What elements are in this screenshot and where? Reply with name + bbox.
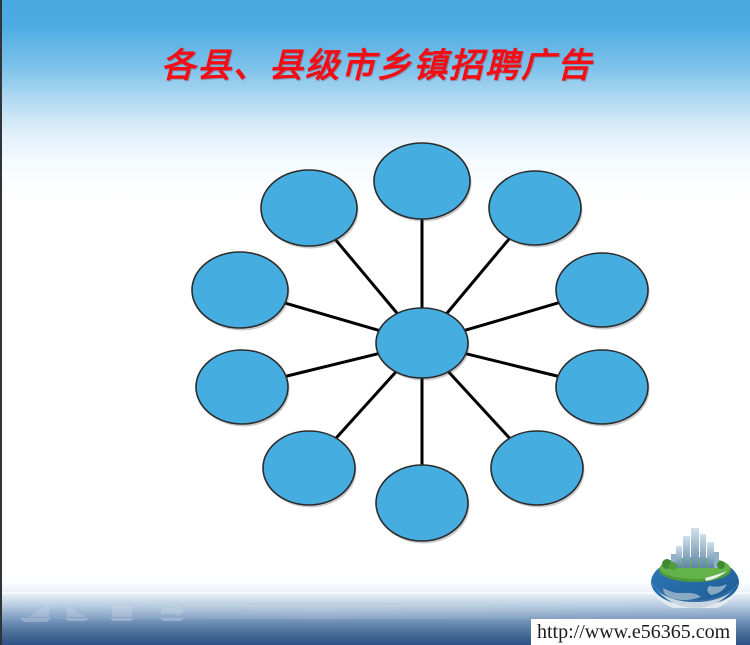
spoke-line-node-right-lower [466, 354, 558, 377]
node-left-lower[interactable] [196, 350, 290, 427]
node-right-lower[interactable] [556, 350, 650, 427]
node-right-lower-shape[interactable] [556, 350, 648, 424]
node-top-right-shape[interactable] [489, 171, 581, 245]
node-right-upper[interactable] [556, 253, 650, 330]
diagram-svg [2, 0, 750, 645]
spoke-line-node-top-right [447, 239, 510, 314]
node-left-lower-shape[interactable] [196, 350, 288, 424]
earth-city-logo [647, 520, 743, 608]
spoke-line-node-bottom-right [448, 372, 509, 439]
radial-diagram [2, 0, 750, 645]
watermark-url: http://www.e56365.com [531, 619, 736, 645]
node-top-shape[interactable] [374, 143, 470, 219]
node-right-upper-shape[interactable] [556, 253, 648, 327]
node-bottom-right-shape[interactable] [491, 431, 583, 505]
node-bottom-left[interactable] [263, 431, 357, 508]
spoke-line-node-bottom-left [336, 372, 396, 438]
spoke-line-node-left-lower [286, 354, 378, 377]
node-bottom-left-shape[interactable] [263, 431, 355, 505]
slide-canvas: 各县、县级市乡镇招聘广告 [0, 0, 750, 645]
spoke-line-node-top-left [336, 240, 398, 314]
spoke-line-node-left-upper [285, 303, 379, 330]
node-top-left[interactable] [261, 170, 359, 249]
node-top-left-shape[interactable] [261, 170, 357, 246]
node-left-upper[interactable] [192, 252, 290, 331]
center-node[interactable] [376, 308, 470, 381]
node-top-right[interactable] [489, 171, 583, 248]
diagram-nodes [192, 143, 650, 544]
node-top[interactable] [374, 143, 472, 222]
node-bottom[interactable] [376, 465, 470, 544]
center-node-shape[interactable] [376, 308, 468, 378]
node-bottom-shape[interactable] [376, 465, 468, 541]
node-left-upper-shape[interactable] [192, 252, 288, 328]
node-bottom-right[interactable] [491, 431, 585, 508]
spoke-line-node-right-upper [465, 303, 559, 331]
